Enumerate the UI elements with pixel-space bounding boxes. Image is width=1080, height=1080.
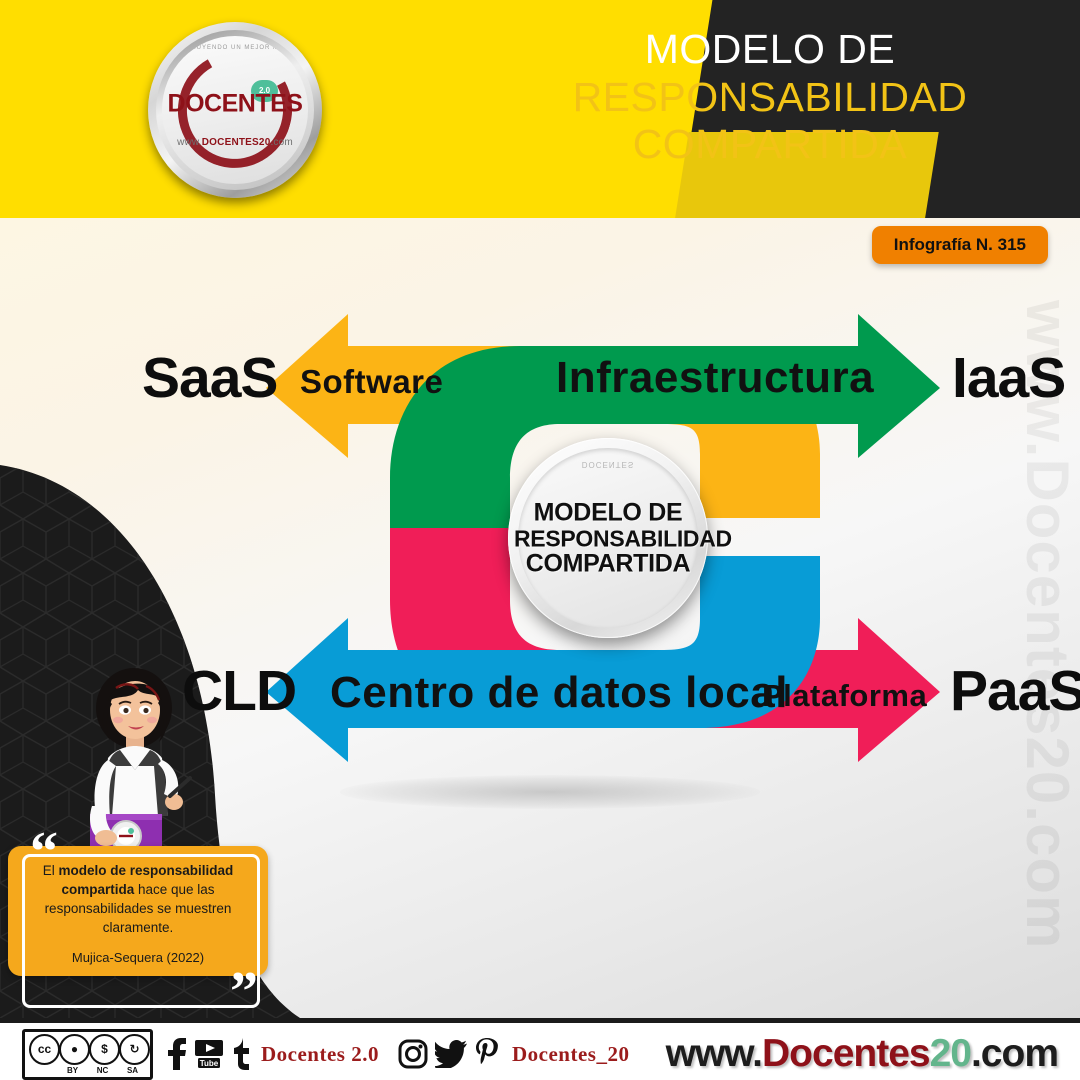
page-title: MODELO DE RESPONSABILIDAD COMPARTIDA [490, 26, 1050, 169]
social-group-facebook-youtube-tumblr: Tube Docentes 2.0 [167, 1038, 384, 1070]
logo-url: www.DOCENTES20.com [162, 137, 308, 148]
arrow-label-infraestructura: Infraestructura [556, 353, 874, 403]
cc-dollar-glyph: $ [89, 1034, 120, 1065]
title-line-2: RESPONSABILIDAD [490, 74, 1050, 122]
header-banner: CONSTRUYENDO UN MEJOR MAÑANA 2.0 DOCENTE… [0, 0, 1080, 218]
logo-url-brand: DOCENTES20 [202, 137, 271, 148]
label-iaas: IaaS [952, 345, 1065, 411]
svg-text:Tube: Tube [200, 1059, 219, 1068]
cc-nc-icon: $ NC [89, 1034, 116, 1075]
label-paas: PaaS [950, 658, 1080, 724]
logo-url-suffix: .com [270, 137, 292, 148]
center-line-2: RESPONSABILIDAD [514, 526, 702, 550]
center-line-1: MODELO DE [514, 499, 702, 526]
quote-callout: “ El modelo de responsabilidad compartid… [8, 846, 268, 976]
cc-by-label: BY [59, 1066, 86, 1075]
cc-nc-label: NC [89, 1066, 116, 1075]
title-line-3: COMPARTIDA [490, 121, 1050, 169]
website-url[interactable]: www.Docentes20.com [666, 1032, 1058, 1076]
twitter-icon[interactable] [435, 1040, 467, 1068]
title-line-1: MODELO DE [490, 26, 1050, 74]
logo-tagline: CONSTRUYENDO UN MEJOR MAÑANA [162, 45, 308, 51]
tumblr-icon[interactable] [231, 1038, 249, 1070]
url-tld: .com [971, 1032, 1058, 1075]
url-www: www. [666, 1032, 762, 1075]
center-disc: DOCENTES MODELO DE RESPONSABILIDAD COMPA… [508, 438, 708, 638]
quote-mark-close: ” [230, 964, 258, 1020]
quote-mark-open: “ [30, 824, 58, 880]
cc-by-icon: ● BY [59, 1034, 86, 1075]
handle-docentes-underscore-20: Docentes_20 [512, 1042, 629, 1067]
disc-embossed-text: DOCENTES [508, 460, 708, 469]
cc-circle: cc [29, 1034, 60, 1065]
docentes-logo[interactable]: CONSTRUYENDO UN MEJOR MAÑANA 2.0 DOCENTE… [148, 22, 322, 198]
pinterest-icon[interactable] [474, 1038, 500, 1070]
infographic-number-badge: Infografía N. 315 [872, 226, 1048, 264]
cc-mark: cc [29, 1034, 56, 1065]
cc-share-glyph: ↻ [119, 1034, 150, 1065]
url-number: 20 [930, 1032, 971, 1075]
logo-face: CONSTRUYENDO UN MEJOR MAÑANA 2.0 DOCENTE… [162, 36, 308, 184]
teacher-illustration [64, 666, 224, 856]
label-saas: SaaS [142, 345, 277, 411]
arrow-label-software: Software [300, 363, 443, 401]
arrow-label-centro-datos: Centro de datos local [330, 668, 788, 718]
cc-sa-label: SA [119, 1066, 146, 1075]
social-group-instagram-twitter-pinterest: Docentes_20 [398, 1038, 634, 1070]
creative-commons-badge[interactable]: cc ● BY $ NC ↻ SA [22, 1029, 153, 1080]
center-line-3: COMPARTIDA [514, 550, 702, 577]
youtube-icon[interactable]: Tube [194, 1039, 224, 1069]
instagram-icon[interactable] [398, 1039, 428, 1069]
url-brand: Docentes [762, 1032, 930, 1075]
center-disc-label: MODELO DE RESPONSABILIDAD COMPARTIDA [514, 499, 702, 576]
arrow-label-plataforma: Plataforma [762, 678, 927, 714]
handle-docentes-20: Docentes 2.0 [261, 1042, 379, 1067]
infographic-canvas: www.Docentes20.com [0, 0, 1080, 1080]
footer-bar: cc ● BY $ NC ↻ SA Tube [0, 1018, 1080, 1080]
cc-sa-icon: ↻ SA [119, 1034, 146, 1075]
facebook-icon[interactable] [167, 1038, 187, 1070]
logo-wordmark: DOCENTES [162, 90, 308, 119]
cc-person-glyph: ● [59, 1034, 90, 1065]
logo-url-prefix: www. [177, 137, 202, 148]
